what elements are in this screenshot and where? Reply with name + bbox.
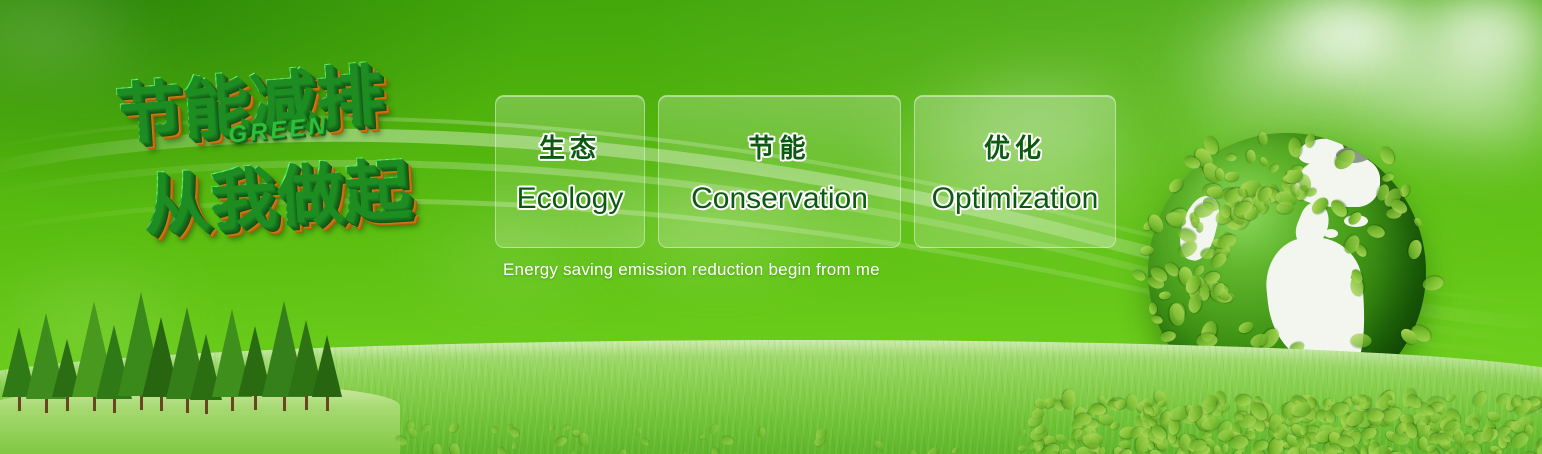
fallen-leaf-icon: [579, 433, 589, 447]
logo-line-bottom: 从我做起: [139, 135, 412, 247]
logo-text-bottom: 从我做起: [139, 135, 412, 247]
cloud-icon: [1455, 96, 1542, 136]
card-ecology-en: Ecology: [517, 182, 624, 216]
card-ecology[interactable]: 生态 Ecology: [495, 95, 645, 248]
cloud-icon: [1292, 6, 1412, 56]
cloud-icon: [1404, 20, 1542, 76]
continent-west-edge: [1175, 192, 1224, 264]
card-optimization[interactable]: 优化 Optimization: [914, 95, 1116, 248]
continent-islands: [1324, 229, 1338, 238]
card-optimization-en: Optimization: [932, 182, 1099, 216]
card-conservation-cn: 节能: [748, 128, 810, 165]
cloud-icon: [1245, 14, 1415, 76]
ivy-leaf-icon: [1130, 268, 1146, 284]
cloud-icon: [1195, 44, 1315, 86]
logo-3d: 节能减排 GREEN 从我做起: [97, 33, 490, 286]
feature-card-group: 生态 Ecology 节能 Conservation 优化 Optimizati…: [495, 95, 1116, 248]
card-ecology-cn: 生态: [539, 128, 601, 165]
ivy-leaf-icon: [1378, 145, 1396, 166]
card-conservation-en: Conservation: [691, 182, 868, 216]
banner-subtitle: Energy saving emission reduction begin f…: [503, 260, 880, 280]
continent-arctic-patch: [1336, 147, 1370, 163]
pine-tree-icon: [312, 335, 342, 411]
fallen-leaf-icon: [711, 447, 719, 454]
cloud-icon: [1330, 66, 1540, 122]
continent-islands: [1344, 215, 1368, 227]
cloud-icon: [0, 8, 130, 60]
cloud-icon: [1432, 8, 1542, 52]
eco-banner: 节能减排 GREEN 从我做起 生态 Ecology 节能: [0, 0, 1542, 454]
card-conservation[interactable]: 节能 Conservation: [658, 95, 901, 248]
card-optimization-cn: 优化: [984, 128, 1046, 165]
